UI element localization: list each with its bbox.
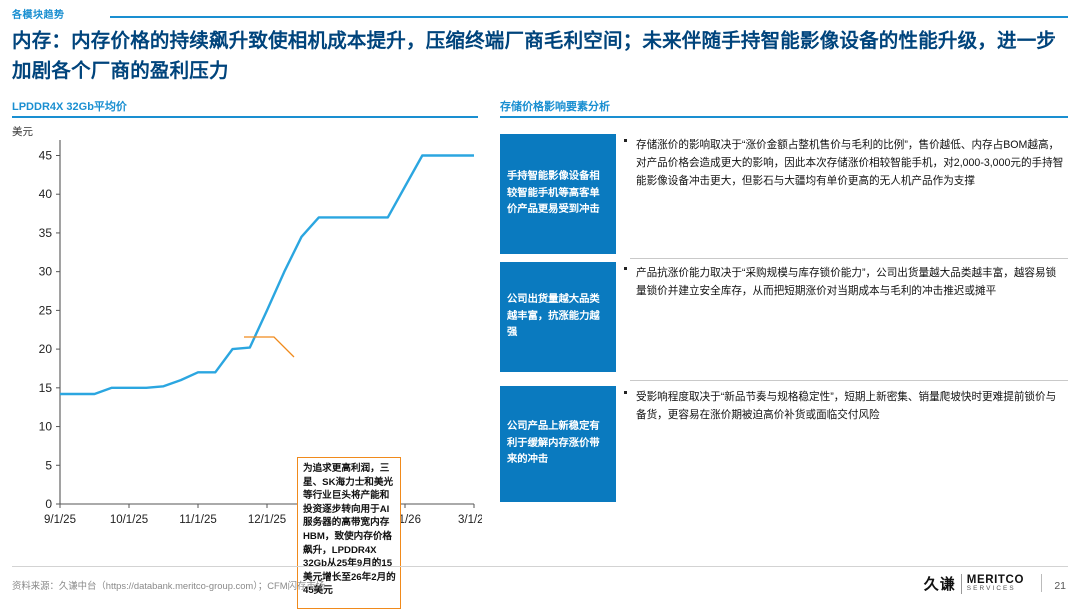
bullet-icon [624,267,627,270]
kicker-divider [110,16,1068,18]
annotation-leader-line [244,337,294,357]
brand-logo-en: MERITCO SERVICES [967,574,1024,593]
page-number: 21 [1054,580,1066,592]
svg-text:12/1/25: 12/1/25 [248,514,286,526]
analysis-row: 手持智能影像设备相较智能手机等高客单价产品更易受到冲击 存储涨价的影响取决于“涨… [500,134,1068,254]
bullet-icon [624,139,627,142]
source-note: 资料来源：久谦中台（https://databank.meritco-group… [12,578,325,592]
svg-text:0: 0 [45,497,52,511]
row-divider [630,380,1068,381]
svg-text:9/1/25: 9/1/25 [44,514,76,526]
page-number-separator [1041,574,1042,592]
analysis-row-tag: 手持智能影像设备相较智能手机等高客单价产品更易受到冲击 [500,134,616,254]
chart-svg: 051015202530354045 9/1/2510/1/2511/1/251… [12,132,482,542]
analysis-row: 公司产品上新稳定有利于缓解内存涨价带来的冲击 受影响程度取决于“新品节奏与规格稳… [500,386,1068,502]
footer-divider [12,566,1068,567]
left-panel-divider [12,116,478,118]
analysis-row-body: 受影响程度取决于“新品节奏与规格稳定性”，短期上新密集、销量爬坡快时更难提前锁价… [616,386,1068,502]
page-title: 内存：内存价格的持续飙升致使相机成本提升，压缩终端厂商毛利空间；未来伴随手持智能… [12,26,1068,86]
right-panel-title: 存储价格影响要素分析 [500,98,610,114]
chart-annotation-text: 为追求更高利润，三星、SK海力士和美光等行业巨头将产能和投资逐步转向用于AI服务… [303,463,396,596]
y-axis-ticks: 051015202530354045 [39,148,60,511]
analysis-row-tag: 公司产品上新稳定有利于缓解内存涨价带来的冲击 [500,386,616,502]
analysis-row-tag: 公司出货量越大品类越丰富，抗涨能力越强 [500,262,616,372]
svg-text:45: 45 [39,148,53,162]
brand-logo: 久谦 MERITCO SERVICES [924,573,1024,594]
svg-text:25: 25 [39,303,53,317]
svg-text:30: 30 [39,265,53,279]
analysis-row-body: 存储涨价的影响取决于“涨价金额占整机售价与毛利的比例”，售价越低、内存占BOM越… [616,134,1068,254]
line-chart: 051015202530354045 9/1/2510/1/2511/1/251… [12,132,482,542]
logo-separator [961,574,962,594]
svg-text:10/1/25: 10/1/25 [110,514,148,526]
analysis-row-text: 存储涨价的影响取决于“涨价金额占整机售价与毛利的比例”，售价越低、内存占BOM越… [636,136,1064,191]
series-line [60,156,474,395]
analysis-row: 公司出货量越大品类越丰富，抗涨能力越强 产品抗涨价能力取决于“采购规模与库存锁价… [500,262,1068,372]
svg-text:35: 35 [39,226,53,240]
analysis-row-body: 产品抗涨价能力取决于“采购规模与库存锁价能力”，公司出货量越大品类越丰富，越容易… [616,262,1068,372]
svg-text:15: 15 [39,381,53,395]
svg-text:10: 10 [39,420,53,434]
chart-title: LPDDR4X 32Gb平均价 [12,98,127,114]
svg-text:5: 5 [45,458,52,472]
brand-logo-en-sub: SERVICES [967,586,1024,593]
analysis-row-text: 产品抗涨价能力取决于“采购规模与库存锁价能力”，公司出货量越大品类越丰富，越容易… [636,264,1064,300]
analysis-row-text: 受影响程度取决于“新品节奏与规格稳定性”，短期上新密集、销量爬坡快时更难提前锁价… [636,388,1064,424]
bullet-icon [624,391,627,394]
svg-text:11/1/25: 11/1/25 [179,514,217,526]
svg-text:40: 40 [39,187,53,201]
brand-logo-cn: 久谦 [924,573,956,594]
svg-text:3/1/26: 3/1/26 [458,514,482,526]
x-axis-ticks: 9/1/2510/1/2511/1/2512/1/251/1/262/1/263… [44,504,482,526]
right-panel-divider [500,116,1068,118]
row-divider [630,258,1068,259]
section-kicker: 各模块趋势 [12,6,65,21]
svg-text:20: 20 [39,342,53,356]
